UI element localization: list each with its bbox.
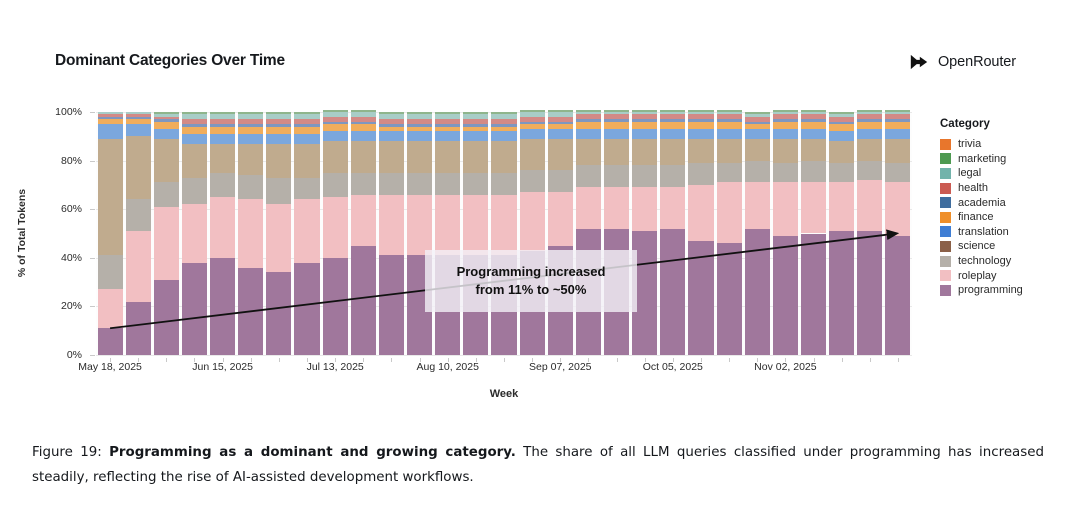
x-tick-mark <box>673 358 674 362</box>
bar-segment-technology <box>688 163 713 185</box>
bar-segment-programming <box>660 229 685 355</box>
bar-segment-academia <box>154 119 179 121</box>
bar-segment-translation <box>520 129 545 139</box>
bar-segment-roleplay <box>801 182 826 233</box>
bar-segment-roleplay <box>294 199 319 262</box>
bar-segment-roleplay <box>829 182 854 231</box>
bar-segment-translation <box>745 129 770 139</box>
x-tick-label: Sep 07, 2025 <box>529 361 591 373</box>
bar-segment-health <box>379 119 404 124</box>
bar-segment-legal <box>238 114 263 119</box>
bar-segment-science <box>238 144 263 176</box>
bar-column <box>604 112 629 355</box>
bar-segment-academia <box>660 119 685 121</box>
bar-segment-health <box>885 114 910 119</box>
bar-segment-academia <box>632 119 657 121</box>
bar-segment-academia <box>829 122 854 124</box>
bar-segment-health <box>323 117 348 122</box>
bar-segment-marketing <box>801 110 826 112</box>
legend-item-academia[interactable]: academia <box>940 195 1060 210</box>
x-tick-label: Aug 10, 2025 <box>416 361 478 373</box>
bar-segment-translation <box>632 129 657 139</box>
x-tick-mark <box>617 358 618 362</box>
bar-segment-science <box>576 139 601 166</box>
bar-segment-translation <box>801 129 826 139</box>
bar-segment-finance <box>98 119 123 124</box>
bar-segment-legal <box>829 114 854 116</box>
bar-segment-legal <box>885 112 910 114</box>
x-tick-label: Jun 15, 2025 <box>192 361 253 373</box>
bar-segment-roleplay <box>576 187 601 228</box>
bar-segment-finance <box>801 122 826 129</box>
legend-item-label: finance <box>958 211 993 223</box>
bar-segment-marketing <box>154 112 179 114</box>
bar-segment-translation <box>773 129 798 139</box>
legend-item-legal[interactable]: legal <box>940 166 1060 181</box>
caption-figure-number: Figure 19: <box>32 445 102 460</box>
bar-segment-technology <box>238 175 263 199</box>
bar-segment-science <box>801 139 826 161</box>
bar-segment-technology <box>548 170 573 192</box>
bar-segment-technology <box>463 173 488 195</box>
bar-segment-marketing <box>632 110 657 112</box>
bar-segment-legal <box>379 114 404 119</box>
bar-segment-translation <box>98 124 123 139</box>
bar-segment-finance <box>773 122 798 129</box>
legend-item-label: technology <box>958 255 1011 267</box>
bar-segment-marketing <box>210 112 235 114</box>
bar-segment-academia <box>576 119 601 121</box>
legend-swatch-icon <box>940 168 951 179</box>
bar-segment-academia <box>351 122 376 124</box>
bar-segment-marketing <box>351 110 376 112</box>
bar-segment-academia <box>98 117 123 119</box>
bar-segment-health <box>154 117 179 119</box>
x-tick-mark <box>251 358 252 362</box>
bar-segment-health <box>548 117 573 122</box>
bar-segment-academia <box>126 117 151 119</box>
bar-segment-health <box>238 119 263 124</box>
bar-segment-science <box>379 141 404 173</box>
bar-segment-academia <box>407 124 432 126</box>
bar-segment-marketing <box>266 112 291 114</box>
bar-segment-health <box>294 119 319 124</box>
x-tick-mark <box>223 358 224 362</box>
bar-segment-translation <box>351 131 376 141</box>
figure-caption: Figure 19: Programming as a dominant and… <box>32 441 1044 491</box>
bar-segment-technology <box>660 165 685 187</box>
bar-segment-academia <box>294 124 319 126</box>
bar-segment-technology <box>801 161 826 183</box>
bar-segment-health <box>745 117 770 122</box>
bar-segment-legal <box>407 114 432 119</box>
bar-segment-health <box>829 117 854 122</box>
bar-segment-marketing <box>182 112 207 114</box>
bar-segment-finance <box>688 122 713 129</box>
legend-swatch-icon <box>940 270 951 281</box>
legend: Category triviamarketinglegalhealthacade… <box>940 118 1060 298</box>
bar-segment-marketing <box>238 112 263 114</box>
bar-segment-roleplay <box>238 199 263 267</box>
legend-items: triviamarketinglegalhealthacademiafinanc… <box>940 137 1060 298</box>
bar-segment-science <box>520 139 545 171</box>
bar-segment-technology <box>829 163 854 182</box>
bar-segment-roleplay <box>491 195 516 256</box>
bar-segment-programming <box>829 231 854 355</box>
bar-segment-science <box>604 139 629 166</box>
bar-segment-legal <box>717 112 742 114</box>
legend-item-label: academia <box>958 197 1006 209</box>
x-tick-mark <box>729 358 730 362</box>
bar-segment-finance <box>182 127 207 134</box>
x-tick-mark <box>560 358 561 362</box>
bar-segment-finance <box>379 127 404 132</box>
bar-segment-roleplay <box>660 187 685 228</box>
x-tick-mark <box>785 358 786 362</box>
bar-segment-technology <box>154 182 179 206</box>
bar-segment-finance <box>632 122 657 129</box>
bar-segment-marketing <box>829 112 854 114</box>
y-tick-mark <box>90 355 95 356</box>
bar-segment-legal <box>660 112 685 114</box>
bar-segment-finance <box>885 122 910 129</box>
bar-segment-translation <box>829 131 854 141</box>
bar-segment-science <box>351 141 376 173</box>
bar-segment-programming <box>294 263 319 355</box>
legend-item-science[interactable]: science <box>940 239 1060 254</box>
x-tick-label: Oct 05, 2025 <box>643 361 703 373</box>
bar-segment-academia <box>435 124 460 126</box>
legend-title: Category <box>940 118 1060 130</box>
x-tick-mark <box>532 358 533 362</box>
bar-segment-marketing <box>407 112 432 114</box>
legend-item-label: science <box>958 240 995 252</box>
bar-segment-science <box>632 139 657 166</box>
bar-column <box>660 112 685 355</box>
bar-segment-finance <box>660 122 685 129</box>
bar-segment-roleplay <box>98 289 123 328</box>
figure-container: Dominant Categories Over Time OpenRouter… <box>0 0 1080 520</box>
bar-segment-marketing <box>885 110 910 112</box>
x-tick-mark <box>870 358 871 362</box>
bar-segment-programming <box>717 243 742 355</box>
bar-segment-marketing <box>688 110 713 112</box>
bar-segment-translation <box>435 131 460 141</box>
x-tick-mark <box>335 358 336 362</box>
bar-segment-legal <box>266 114 291 119</box>
bar-segment-marketing <box>660 110 685 112</box>
bar-segment-science <box>717 139 742 163</box>
bar-segment-marketing <box>435 112 460 114</box>
bar-segment-technology <box>717 163 742 182</box>
bar-segment-health <box>98 114 123 116</box>
x-tick-mark <box>307 358 308 362</box>
bar-segment-programming <box>154 280 179 355</box>
bar-segment-legal <box>210 114 235 119</box>
y-axis-ticks: 0%20%40%60%80%100% <box>44 112 90 355</box>
bar-segment-finance <box>323 124 348 131</box>
bar-segment-academia <box>885 119 910 121</box>
bar-column <box>801 112 826 355</box>
bar-segment-roleplay <box>435 195 460 256</box>
legend-swatch-icon <box>940 241 951 252</box>
bar-segment-health <box>717 114 742 119</box>
bar-segment-science <box>210 144 235 173</box>
y-tick-label: 40% <box>61 252 82 264</box>
bar-segment-finance <box>266 127 291 134</box>
caption-bold: Programming as a dominant and growing ca… <box>109 445 516 460</box>
bar-segment-technology <box>632 165 657 187</box>
bar-column <box>829 112 854 355</box>
legend-item-label: roleplay <box>958 270 997 282</box>
bar-segment-programming <box>351 246 376 355</box>
bar-segment-finance <box>463 127 488 132</box>
bar-segment-science <box>548 139 573 171</box>
legend-item-roleplay[interactable]: roleplay <box>940 268 1060 283</box>
bar-segment-legal <box>773 112 798 114</box>
bar-segment-roleplay <box>126 231 151 301</box>
bar-segment-health <box>857 114 882 119</box>
bar-segment-translation <box>491 131 516 141</box>
bar-segment-science <box>745 139 770 161</box>
bar-column <box>857 112 882 355</box>
bar-column <box>294 112 319 355</box>
bar-segment-health <box>210 119 235 124</box>
bar-segment-roleplay <box>379 195 404 256</box>
bar-segment-academia <box>266 124 291 126</box>
x-tick-label: Nov 02, 2025 <box>754 361 816 373</box>
bar-segment-programming <box>857 231 882 355</box>
bar-segment-legal <box>463 114 488 119</box>
x-tick-mark <box>194 358 195 362</box>
bar-segment-finance <box>548 124 573 129</box>
y-tick-label: 20% <box>61 300 82 312</box>
bar-segment-technology <box>266 178 291 205</box>
bar-column <box>745 112 770 355</box>
bar-segment-roleplay <box>688 185 713 241</box>
bar-segment-academia <box>491 124 516 126</box>
bar-segment-technology <box>435 173 460 195</box>
bar-column <box>182 112 207 355</box>
bar-segment-health <box>491 119 516 124</box>
bar-segment-roleplay <box>323 197 348 258</box>
bar-segment-finance <box>154 122 179 129</box>
bar-segment-legal <box>294 114 319 119</box>
legend-item-translation[interactable]: translation <box>940 225 1060 240</box>
bar-segment-roleplay <box>407 195 432 256</box>
bar-column <box>773 112 798 355</box>
bar-segment-translation <box>576 129 601 139</box>
bar-segment-programming <box>323 258 348 355</box>
bar-segment-academia <box>801 119 826 121</box>
bar-segment-legal <box>435 114 460 119</box>
legend-item-label: legal <box>958 167 981 179</box>
bar-segment-programming <box>801 234 826 356</box>
x-tick-label: Jul 13, 2025 <box>307 361 364 373</box>
bar-segment-science <box>829 141 854 163</box>
bar-segment-technology <box>294 178 319 200</box>
bar-column <box>238 112 263 355</box>
annotation-line-2: from 11% to ~50% <box>476 282 587 297</box>
bar-segment-roleplay <box>632 187 657 231</box>
bar-segment-academia <box>520 122 545 124</box>
legend-item-marketing[interactable]: marketing <box>940 152 1060 167</box>
bar-segment-technology <box>857 161 882 180</box>
bar-segment-academia <box>379 124 404 126</box>
bar-column <box>576 112 601 355</box>
bar-segment-roleplay <box>463 195 488 256</box>
legend-item-finance[interactable]: finance <box>940 210 1060 225</box>
bar-segment-science <box>126 136 151 199</box>
bar-segment-health <box>632 114 657 119</box>
legend-swatch-icon <box>940 226 951 237</box>
bar-segment-translation <box>126 124 151 136</box>
bar-segment-legal <box>154 114 179 116</box>
bar-segment-translation <box>604 129 629 139</box>
x-axis-ticks: May 18, 2025Jun 15, 2025Jul 13, 2025Aug … <box>96 358 912 380</box>
bar-segment-roleplay <box>885 182 910 235</box>
bar-segment-programming <box>885 236 910 355</box>
bar-segment-academia <box>688 119 713 121</box>
bar-segment-roleplay <box>717 182 742 243</box>
bar-segment-technology <box>98 255 123 289</box>
bar-segment-academia <box>717 119 742 121</box>
bar-segment-translation <box>323 131 348 141</box>
bar-column <box>548 112 573 355</box>
bar-segment-translation <box>688 129 713 139</box>
bar-column <box>210 112 235 355</box>
bar-column <box>463 112 488 355</box>
y-tick-label: 100% <box>55 106 82 118</box>
bar-segment-marketing <box>773 110 798 112</box>
bar-segment-finance <box>351 124 376 131</box>
legend-item-health[interactable]: health <box>940 181 1060 196</box>
x-tick-mark <box>448 358 449 362</box>
legend-item-technology[interactable]: technology <box>940 254 1060 269</box>
legend-item-programming[interactable]: programming <box>940 283 1060 298</box>
bar-segment-health <box>801 114 826 119</box>
legend-swatch-icon <box>940 256 951 267</box>
bar-column <box>98 112 123 355</box>
bar-segment-translation <box>238 134 263 144</box>
y-tick-label: 60% <box>61 203 82 215</box>
x-tick-label: May 18, 2025 <box>78 361 142 373</box>
legend-item-label: health <box>958 182 988 194</box>
bar-segment-health <box>351 117 376 122</box>
bar-segment-programming <box>238 268 263 355</box>
bar-segment-finance <box>717 122 742 129</box>
bar-segment-translation <box>463 131 488 141</box>
bar-segment-translation <box>660 129 685 139</box>
bar-segment-marketing <box>323 110 348 112</box>
y-tick-mark <box>90 209 95 210</box>
bar-segment-technology <box>745 161 770 183</box>
bar-segment-programming <box>773 236 798 355</box>
bar-segment-health <box>182 119 207 124</box>
bar-segment-finance <box>857 122 882 129</box>
bar-segment-marketing <box>604 110 629 112</box>
bar-segment-marketing <box>857 110 882 112</box>
bar-segment-finance <box>238 127 263 134</box>
bar-segment-health <box>463 119 488 124</box>
bar-segment-academia <box>182 124 207 126</box>
x-tick-mark <box>110 358 111 362</box>
bar-segment-programming <box>379 255 404 355</box>
bar-segment-academia <box>745 122 770 124</box>
bar-segment-programming <box>98 328 123 355</box>
x-tick-mark <box>476 358 477 362</box>
bar-column <box>154 112 179 355</box>
bar-segment-finance <box>520 124 545 129</box>
x-tick-mark <box>363 358 364 362</box>
bar-segment-health <box>126 114 151 116</box>
bar-segment-health <box>604 114 629 119</box>
bar-segment-marketing <box>491 112 516 114</box>
bar-segment-programming <box>688 241 713 355</box>
y-axis-label: % of Total Tokens <box>16 189 28 277</box>
legend-swatch-icon <box>940 139 951 150</box>
x-tick-mark <box>814 358 815 362</box>
bar-segment-technology <box>491 173 516 195</box>
bar-segment-health <box>520 117 545 122</box>
bar-segment-roleplay <box>210 197 235 258</box>
bar-segment-technology <box>351 173 376 195</box>
bar-segment-legal <box>688 112 713 114</box>
bar-segment-marketing <box>379 112 404 114</box>
bar-segment-roleplay <box>548 192 573 245</box>
bar-segment-programming <box>210 258 235 355</box>
bar-segment-translation <box>266 134 291 144</box>
bar-segment-roleplay <box>351 195 376 246</box>
bar-segment-finance <box>210 127 235 134</box>
bar-segment-health <box>407 119 432 124</box>
bar-segment-health <box>266 119 291 124</box>
bar-segment-programming <box>126 302 151 355</box>
bar-segment-translation <box>857 129 882 139</box>
bar-segment-technology <box>576 165 601 187</box>
bar-segment-roleplay <box>520 192 545 250</box>
bar-segment-science <box>182 144 207 178</box>
bar-segment-science <box>857 139 882 161</box>
bar-segment-science <box>323 141 348 173</box>
bar-column <box>126 112 151 355</box>
bar-segment-legal <box>351 112 376 117</box>
x-tick-mark <box>898 358 899 362</box>
legend-swatch-icon <box>940 285 951 296</box>
bar-segment-programming <box>182 263 207 355</box>
legend-item-trivia[interactable]: trivia <box>940 137 1060 152</box>
legend-item-label: translation <box>958 226 1009 238</box>
bar-segment-finance <box>407 127 432 132</box>
bar-segment-finance <box>126 119 151 124</box>
bar-column <box>885 112 910 355</box>
bar-segment-translation <box>717 129 742 139</box>
x-tick-mark <box>138 358 139 362</box>
bar-segment-translation <box>885 129 910 139</box>
bar-segment-science <box>463 141 488 173</box>
bar-segment-finance <box>435 127 460 132</box>
bar-segment-roleplay <box>266 204 291 272</box>
x-tick-mark <box>645 358 646 362</box>
x-tick-mark <box>842 358 843 362</box>
bar-segment-translation <box>379 131 404 141</box>
bar-segment-health <box>435 119 460 124</box>
annotation-box: Programming increased from 11% to ~50% <box>425 250 637 312</box>
bar-segment-marketing <box>548 110 573 112</box>
bar-segment-roleplay <box>154 207 179 280</box>
x-tick-mark <box>504 358 505 362</box>
legend-item-label: programming <box>958 284 1023 296</box>
